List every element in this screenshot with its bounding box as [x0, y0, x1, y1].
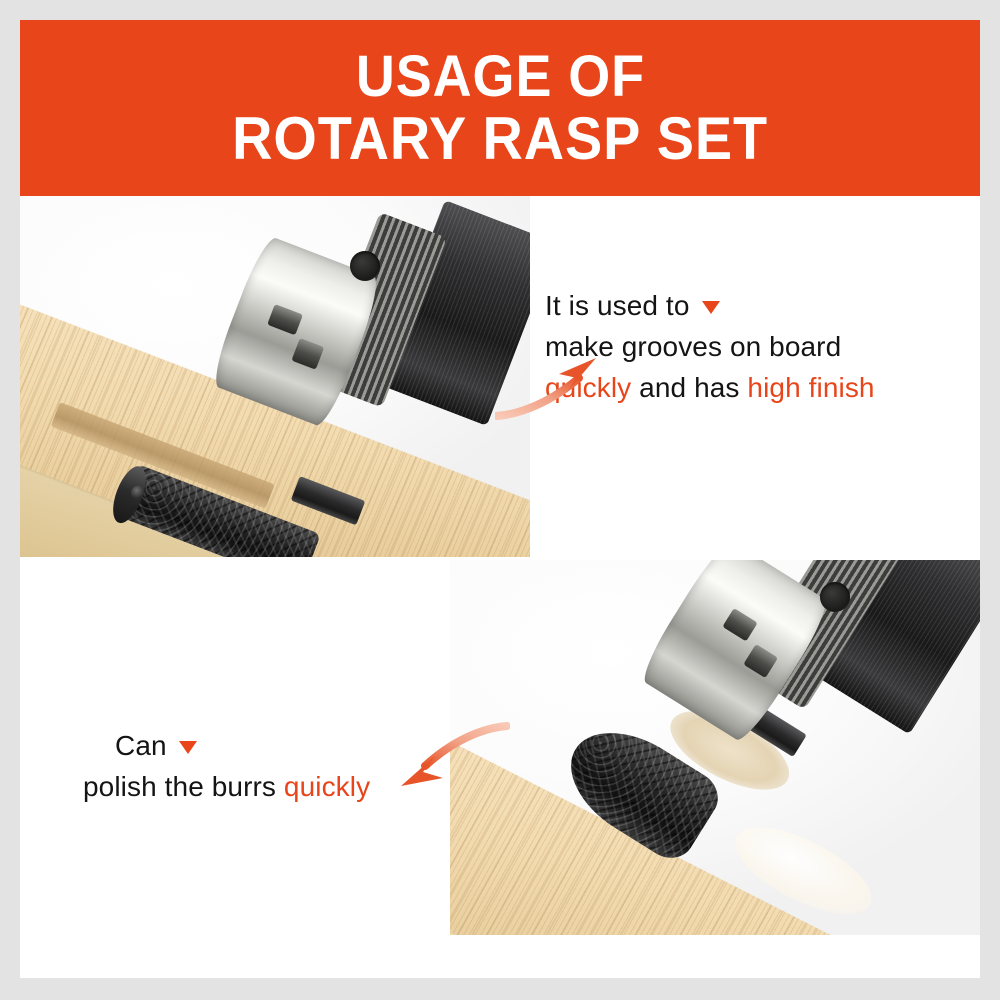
callout-bottom-line-1-text: Can — [115, 730, 167, 761]
content-sheet: USAGE OF ROTARY RASP SET — [20, 20, 980, 978]
chuck-key-hole — [350, 251, 380, 281]
callout-top-line-1-text: It is used to — [545, 290, 690, 321]
callout-top-line-2: make grooves on board — [545, 326, 945, 367]
callout-bottom-line-1: Can — [55, 725, 435, 766]
triangle-down-icon — [179, 741, 197, 754]
callout-top-line-3-mid: and has — [631, 372, 747, 403]
callout-top-highlight-high-finish: high finish — [747, 372, 874, 403]
callout-top-right: It is used to make grooves on board quic… — [545, 285, 945, 408]
header-banner: USAGE OF ROTARY RASP SET — [20, 20, 980, 196]
callout-bottom-line-2-text: polish the burrs — [83, 771, 284, 802]
callout-top-line-1: It is used to — [545, 285, 945, 326]
photo-groove-cutting — [20, 196, 530, 557]
callout-bottom-line-2: polish the burrs quickly — [55, 766, 435, 807]
chuck-key-hole — [820, 582, 850, 612]
callout-top-highlight-quickly: quickly — [545, 372, 631, 403]
callout-bottom-left: Can polish the burrs quickly — [55, 725, 435, 807]
triangle-down-icon — [702, 301, 720, 314]
callout-bottom-highlight-quickly: quickly — [284, 771, 370, 802]
header-title-line-1: USAGE OF — [355, 46, 644, 108]
photo-burr-polishing — [450, 560, 980, 935]
header-title-line-2: ROTARY RASP SET — [232, 108, 768, 170]
callout-top-line-3: quickly and has high finish — [545, 367, 945, 408]
infographic-page: USAGE OF ROTARY RASP SET — [0, 0, 1000, 1000]
